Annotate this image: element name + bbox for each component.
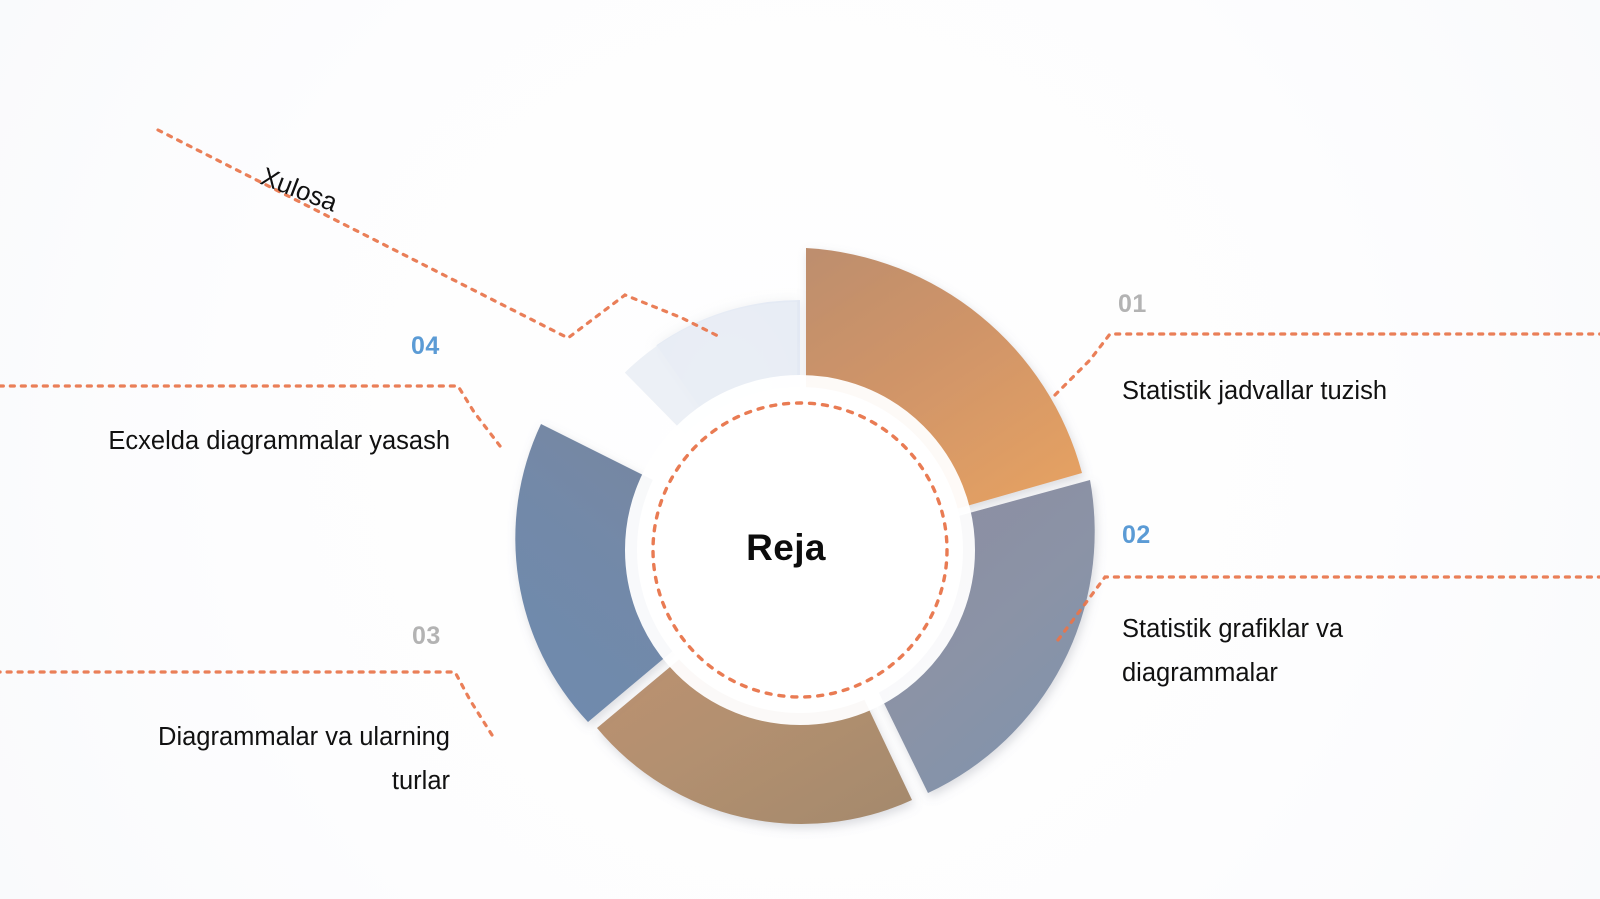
item-number-01: 01 (1118, 292, 1147, 317)
connector-line-xulosa (158, 130, 722, 338)
item-label-03[interactable]: Diagrammalar va ularning turlar (20, 716, 450, 804)
item-label-04[interactable]: Ecxelda diagrammalar yasash (10, 420, 450, 464)
slide-canvas: Reja 01 02 03 04 Statistik jadvallar tuz… (0, 0, 1600, 899)
item-number-03: 03 (412, 624, 441, 649)
item-number-02: 02 (1122, 523, 1151, 548)
item-label-02[interactable]: Statistik grafiklar va diagrammalar (1122, 608, 1582, 696)
item-number-04: 04 (411, 334, 440, 359)
item-label-01[interactable]: Statistik jadvallar tuzish (1122, 370, 1592, 414)
center-title: Reja (746, 527, 826, 569)
